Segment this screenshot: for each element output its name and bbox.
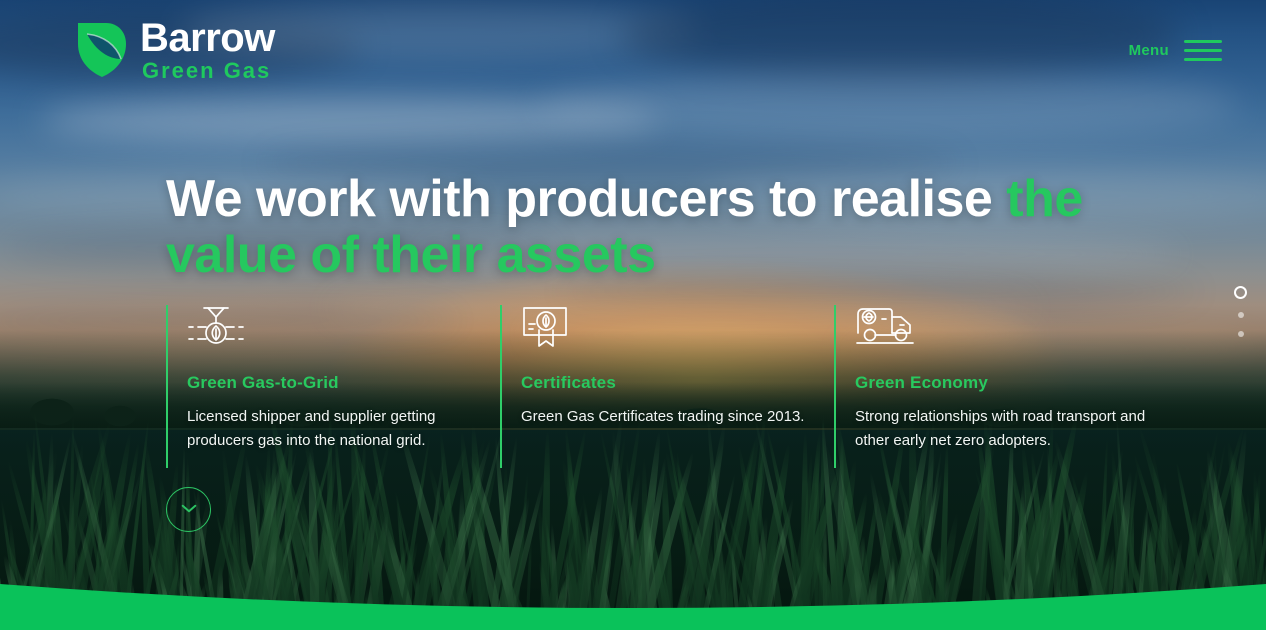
card-text: Licensed shipper and supplier getting pr… [187,405,500,452]
card-title: Green Gas-to-Grid [187,373,500,393]
certificate-leaf-icon [521,305,834,347]
hamburger-icon [1184,40,1222,61]
delivery-truck-leaf-icon [855,305,1168,347]
gas-valve-leaf-icon [187,305,500,347]
hero-section: Barrow Green Gas Menu We work with produ… [0,0,1266,630]
card-title: Green Economy [855,373,1168,393]
hero-feature-cards: Green Gas-to-Grid Licensed shipper and s… [166,305,1168,452]
card-text: Strong relationships with road transport… [855,405,1168,452]
leaf-logo-icon [76,21,128,79]
feature-card[interactable]: Certificates Green Gas Certificates trad… [500,305,834,452]
feature-card[interactable]: Green Gas-to-Grid Licensed shipper and s… [166,305,500,452]
brand-logo[interactable]: Barrow Green Gas [76,18,275,82]
menu-label: Menu [1129,42,1169,59]
card-divider [834,305,836,468]
hero-headline: We work with producers to realise the va… [166,172,1166,283]
chevron-down-icon [180,501,198,519]
card-divider [500,305,502,468]
brand-subtitle: Green Gas [142,60,275,82]
scroll-down-button[interactable] [166,487,211,532]
site-header: Barrow Green Gas Menu [0,0,1266,100]
card-divider [166,305,168,468]
brand-name: Barrow [140,18,275,58]
slider-dot-2[interactable] [1238,312,1244,318]
slider-dot-1[interactable] [1234,286,1247,299]
slider-dot-3[interactable] [1238,331,1244,337]
card-title: Certificates [521,373,834,393]
card-text: Green Gas Certificates trading since 201… [521,405,834,429]
slider-pagination [1234,286,1247,337]
bottom-green-curve [0,570,1266,630]
headline-white-part: We work with producers to realise [166,170,1006,228]
menu-button[interactable]: Menu [1129,40,1222,61]
feature-card[interactable]: Green Economy Strong relationships with … [834,305,1168,452]
